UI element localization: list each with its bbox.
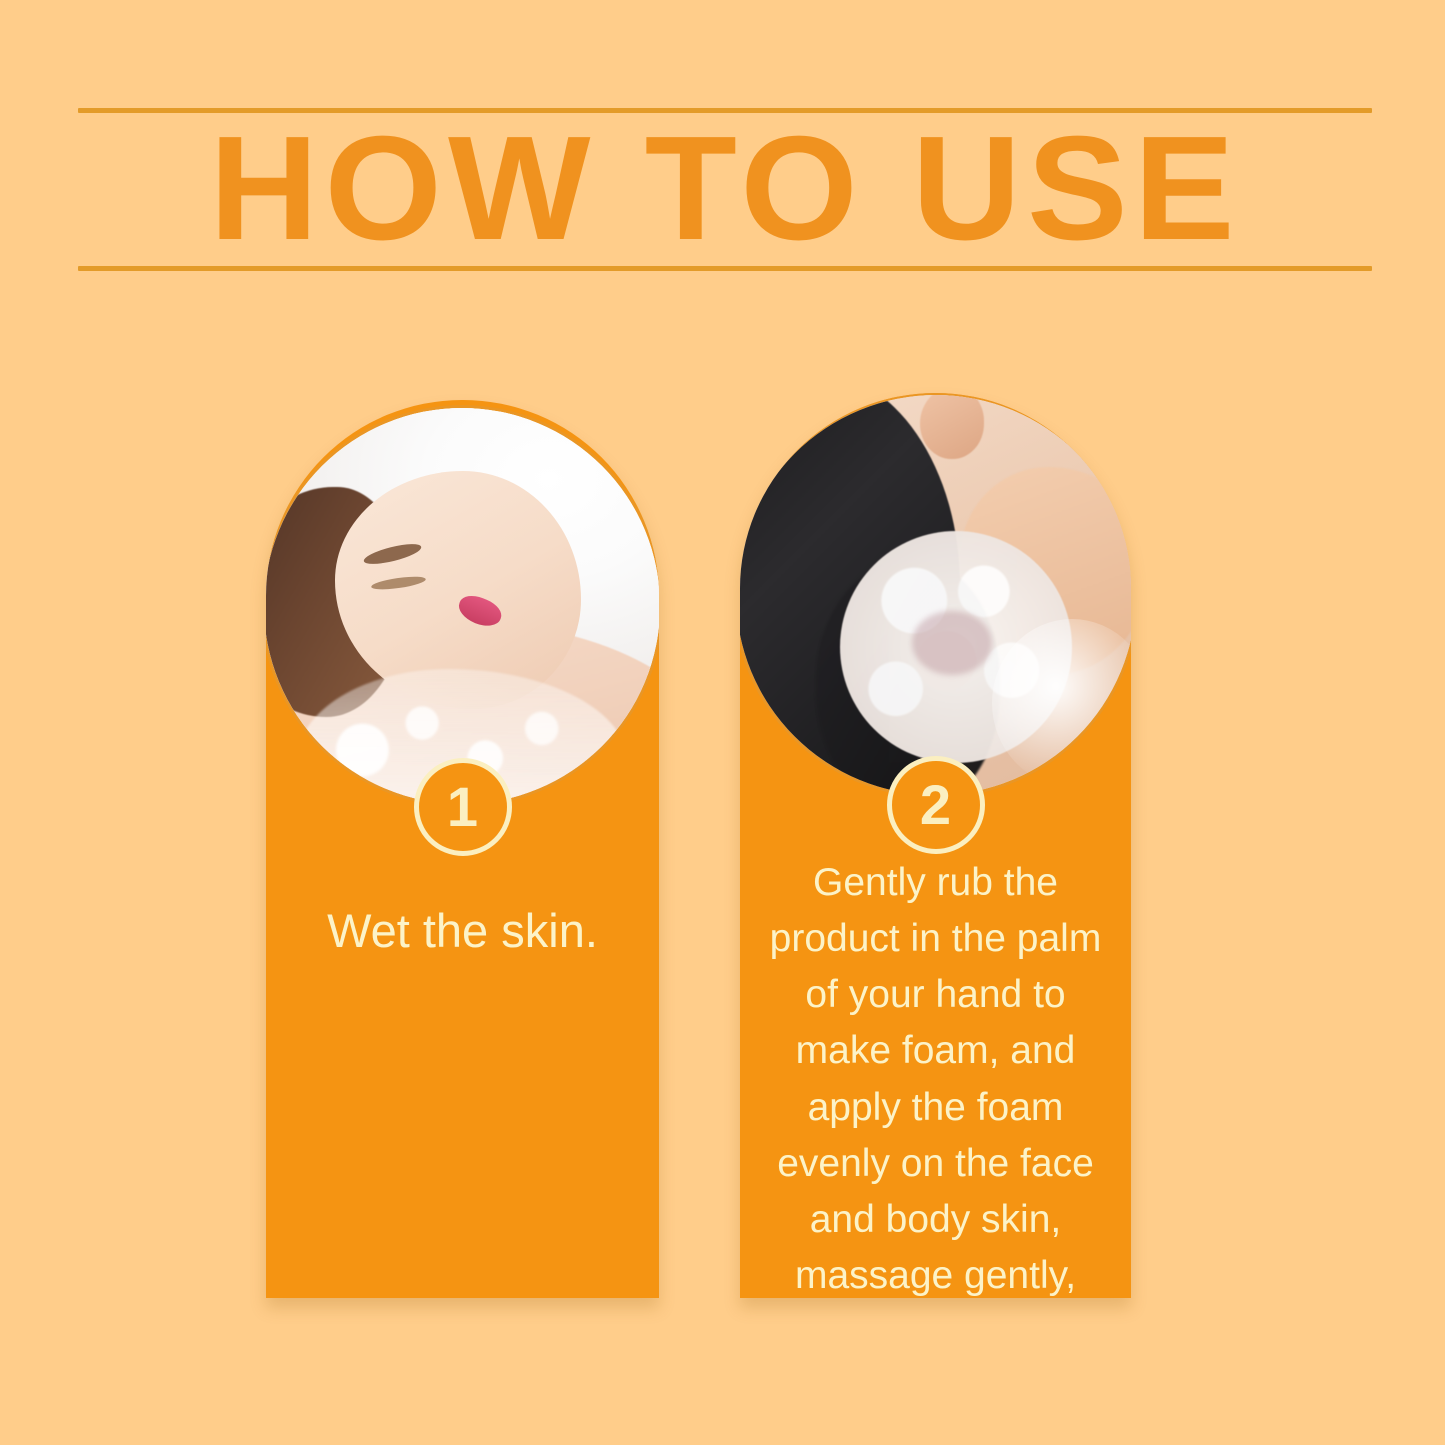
photo-loofah-detail: [912, 611, 992, 675]
step-1-photo: [266, 408, 659, 804]
step-1-text: Wet the skin.: [266, 900, 659, 961]
infographic-canvas: HOW TO USE 1 Wet the skin. 2 Gen: [0, 0, 1445, 1445]
header-rule-bottom: [78, 266, 1372, 271]
step-2-text: Gently rub the product in the palm of yo…: [740, 855, 1131, 1298]
step-card-2: 2 Gently rub the product in the palm of …: [740, 393, 1131, 1298]
step-1-number-badge: 1: [414, 758, 512, 856]
step-card-1: 1 Wet the skin.: [266, 400, 659, 1298]
step-2-photo: [740, 395, 1131, 795]
step-2-number-badge: 2: [887, 756, 985, 854]
page-title: HOW TO USE: [65, 118, 1385, 260]
